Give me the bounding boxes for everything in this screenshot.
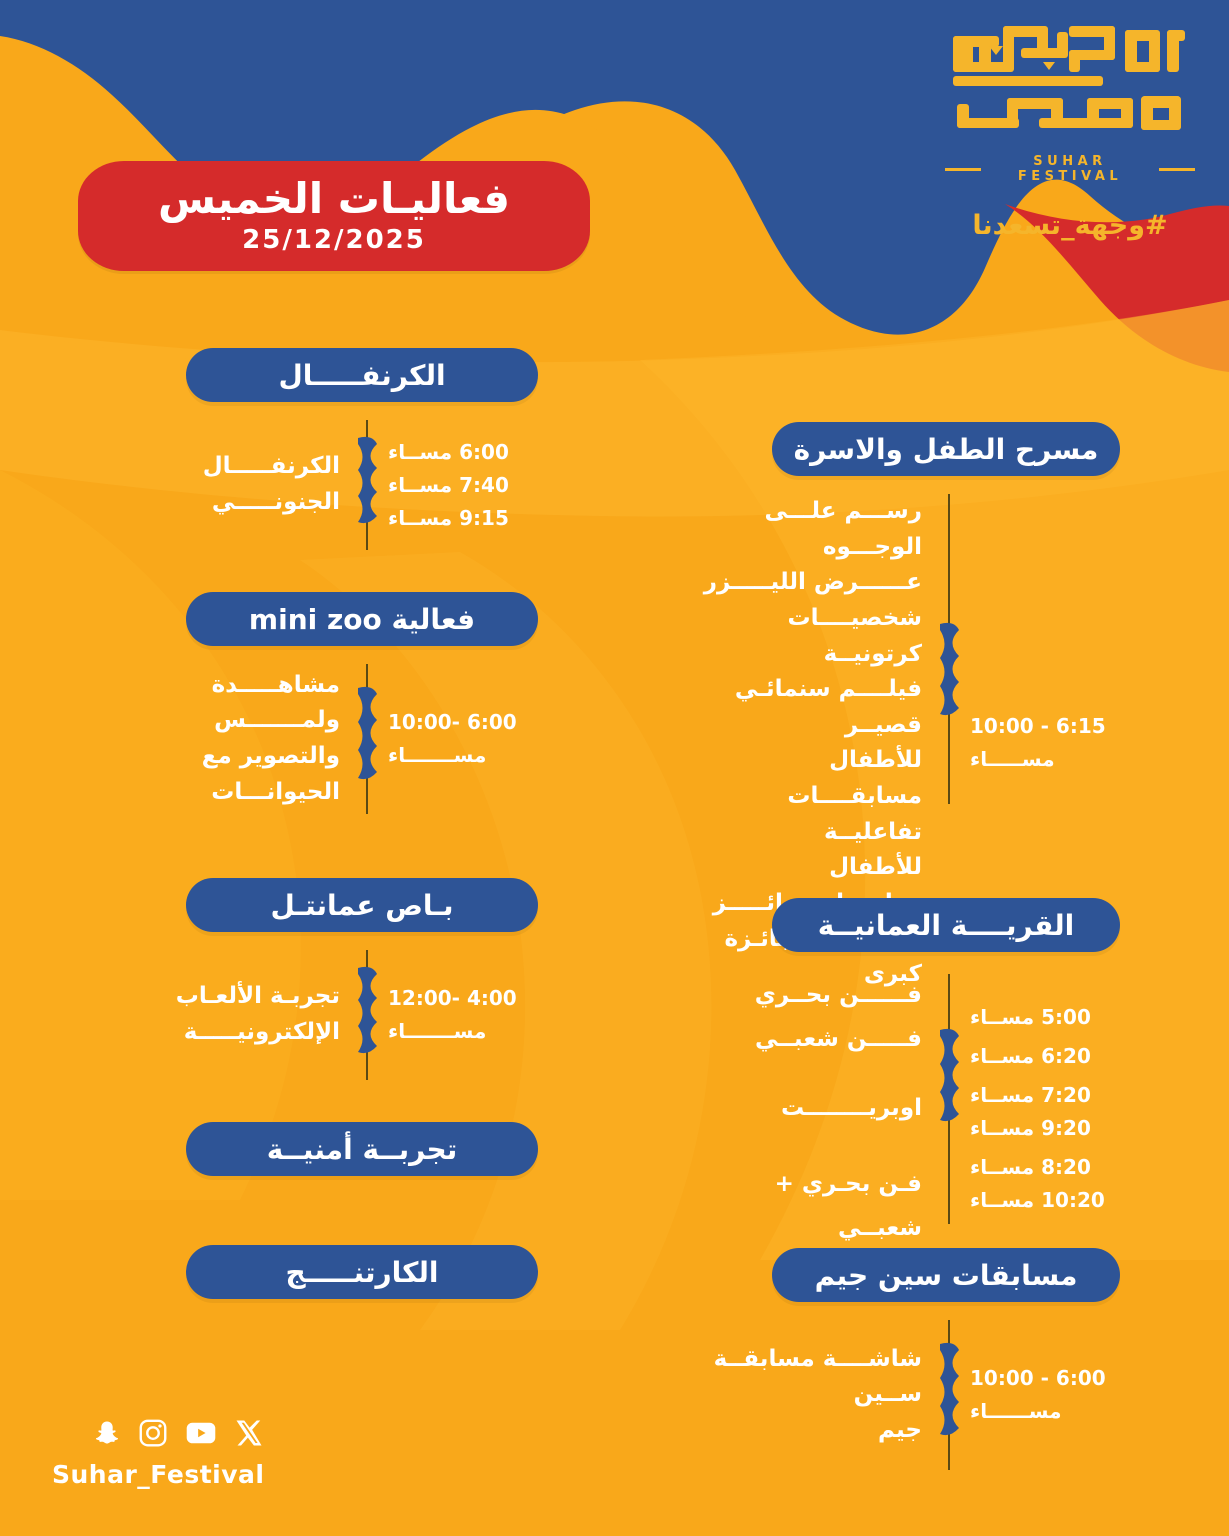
section-title-karting[interactable]: الكارتنـــــج [186, 1245, 538, 1299]
list-item: مسابقــــات تفاعليــة للأطفال [700, 779, 922, 886]
section-title-security-experience[interactable]: تجربــة أمنيــة [186, 1122, 538, 1176]
wave-divider [346, 950, 388, 1080]
list-item: تجربـة الألعـاب الإلكترونيـــــة [118, 979, 340, 1050]
youtube-icon[interactable] [185, 1418, 217, 1448]
wave-divider [928, 1320, 970, 1470]
time-group: 5:00 مســاء [970, 1001, 1120, 1034]
list-item: فـــــن شعبــي [700, 1018, 922, 1062]
items-quiz-competitions: شاشــــة مسابقــة ســين جيم [700, 1342, 928, 1449]
time-group: 6:20 مســاء [970, 1040, 1120, 1073]
time-group: 7:20 مســاء 9:20 مســاء [970, 1079, 1120, 1145]
section-omantel-bus: بـاص عمانتـل 4:00 -12:00 مســـــــاء تجر… [118, 878, 538, 1080]
social-handle: Suhar_Festival [52, 1460, 264, 1489]
section-title-mini-zoo[interactable]: فعالية mini zoo [186, 592, 538, 646]
list-item: اوبريــــــــت [700, 1087, 922, 1131]
section-carnival: الكرنفـــــال 6:00 مســاء 7:40 مســاء 9:… [118, 348, 538, 550]
time-entry: 6:00 - 10:00 [970, 1362, 1120, 1395]
section-title-carnival[interactable]: الكرنفـــــال [186, 348, 538, 402]
logo-latin-name: SUHAR FESTIVAL [945, 154, 1195, 184]
section-mini-zoo: فعالية mini zoo 6:00 -10:00 مســـــــاء … [118, 592, 538, 814]
x-twitter-icon[interactable] [234, 1418, 264, 1448]
time-entry: 8:20 مســاء [970, 1151, 1120, 1184]
section-title-omani-village[interactable]: القريــــة العمانيــة [772, 898, 1120, 952]
times-quiz-competitions: 6:00 - 10:00 مســــــاء [970, 1362, 1120, 1428]
time-entry: مســـــــاء [388, 1015, 538, 1048]
time-entry: 7:40 مســاء [388, 469, 538, 502]
logo-latin-text: SUHAR FESTIVAL [990, 154, 1150, 184]
list-item: فـن بحـري + شعبــي [700, 1163, 922, 1250]
section-body-mini-zoo: 6:00 -10:00 مســـــــاء مشاهـــــدة ولمـ… [118, 664, 538, 814]
time-entry: مســـــاء [970, 743, 1120, 776]
section-karting: الكارتنـــــج [118, 1245, 538, 1299]
times-mini-zoo: 6:00 -10:00 مســـــــاء [388, 706, 538, 772]
time-entry: 4:00 -12:00 [388, 982, 538, 1015]
title-badge: فعاليـات الخميس 25/12/2025 [78, 161, 590, 271]
list-item: فيلــــم سنمائـي قصيــر للأطفال [700, 672, 922, 779]
times-omantel-bus: 4:00 -12:00 مســـــــاء [388, 982, 538, 1048]
section-omani-village: القريــــة العمانيــة 5:00 مســاء 6:20 م… [700, 898, 1120, 1250]
times-carnival: 6:00 مســاء 7:40 مســاء 9:15 مســاء [388, 436, 538, 535]
items-carnival: الكرنفـــــال الجنونـــــي [118, 449, 346, 520]
list-item: شخصيــــات كرتونيــة [700, 601, 922, 672]
time-group: 8:20 مســاء 10:20 مســاء [970, 1151, 1120, 1217]
section-title-child-family-theatre[interactable]: مسرح الطفل والاسرة [772, 422, 1120, 476]
list-item: عــــــرض الليـــــزر [700, 565, 922, 601]
items-omantel-bus: تجربـة الألعـاب الإلكترونيـــــة [118, 979, 346, 1050]
time-entry: 5:00 مســاء [970, 1001, 1120, 1034]
time-entry: 9:20 مســاء [970, 1112, 1120, 1145]
social-footer: Suhar_Festival [52, 1418, 264, 1489]
section-quiz-competitions: مسابقات سين جيم 6:00 - 10:00 مســــــاء … [700, 1248, 1120, 1470]
time-entry: 6:20 مســاء [970, 1040, 1120, 1073]
time-entry: 6:00 -10:00 [388, 706, 538, 739]
items-omani-village: فــــــن بحــري فـــــن شعبــي اوبريــــ… [700, 974, 928, 1250]
time-entry: 6:00 مســاء [388, 436, 538, 469]
time-entry: مســـــــاء [388, 739, 538, 772]
list-item: رســـم علـــى الوجـــوه [700, 494, 922, 565]
instagram-icon[interactable] [138, 1418, 168, 1448]
social-icons [52, 1418, 264, 1448]
section-security-experience: تجربــة أمنيــة [118, 1122, 538, 1176]
page-title: فعاليـات الخميس [158, 177, 510, 221]
times-child-family-theatre: 6:15 - 10:00 مســـــاء [970, 710, 1120, 776]
list-item: فــــــن بحــري [700, 974, 922, 1018]
suhar-festival-logo-mark [945, 18, 1195, 148]
list-item: شاشــــة مسابقــة ســين جيم [700, 1342, 922, 1449]
time-entry: 10:20 مســاء [970, 1184, 1120, 1217]
logo-rule-right [1159, 168, 1195, 171]
list-item: مشاهـــــدة ولمـــــــس والتصوير مع الحي… [118, 668, 340, 811]
time-entry: مســــــاء [970, 1395, 1120, 1428]
section-body-quiz-competitions: 6:00 - 10:00 مســــــاء شاشــــة مسابقــ… [700, 1320, 1120, 1470]
section-body-carnival: 6:00 مســاء 7:40 مســاء 9:15 مســاء الكر… [118, 420, 538, 550]
items-mini-zoo: مشاهـــــدة ولمـــــــس والتصوير مع الحي… [118, 668, 346, 811]
time-entry: 9:15 مســاء [388, 502, 538, 535]
logo-hashtag: #وجهة_تسعدنا [945, 210, 1195, 241]
wave-divider [928, 974, 970, 1250]
time-entry: 7:20 مســاء [970, 1079, 1120, 1112]
poster-root: فعاليـات الخميس 25/12/2025 [0, 0, 1229, 1536]
section-title-omantel-bus[interactable]: بـاص عمانتـل [186, 878, 538, 932]
logo-rule-left [945, 168, 981, 171]
time-entry: 6:15 - 10:00 [970, 710, 1120, 743]
section-body-omantel-bus: 4:00 -12:00 مســـــــاء تجربـة الألعـاب … [118, 950, 538, 1080]
festival-logo: SUHAR FESTIVAL #وجهة_تسعدنا [945, 18, 1195, 241]
list-item: الكرنفـــــال الجنونـــــي [118, 449, 340, 520]
page-date: 25/12/2025 [242, 225, 426, 255]
section-title-quiz-competitions[interactable]: مسابقات سين جيم [772, 1248, 1120, 1302]
times-omani-village: 5:00 مســاء 6:20 مســاء 7:20 مســاء 9:20… [970, 1001, 1120, 1223]
wave-divider [346, 420, 388, 550]
snapchat-icon[interactable] [93, 1418, 121, 1448]
section-body-omani-village: 5:00 مســاء 6:20 مســاء 7:20 مســاء 9:20… [700, 974, 1120, 1250]
wave-divider [346, 664, 388, 814]
